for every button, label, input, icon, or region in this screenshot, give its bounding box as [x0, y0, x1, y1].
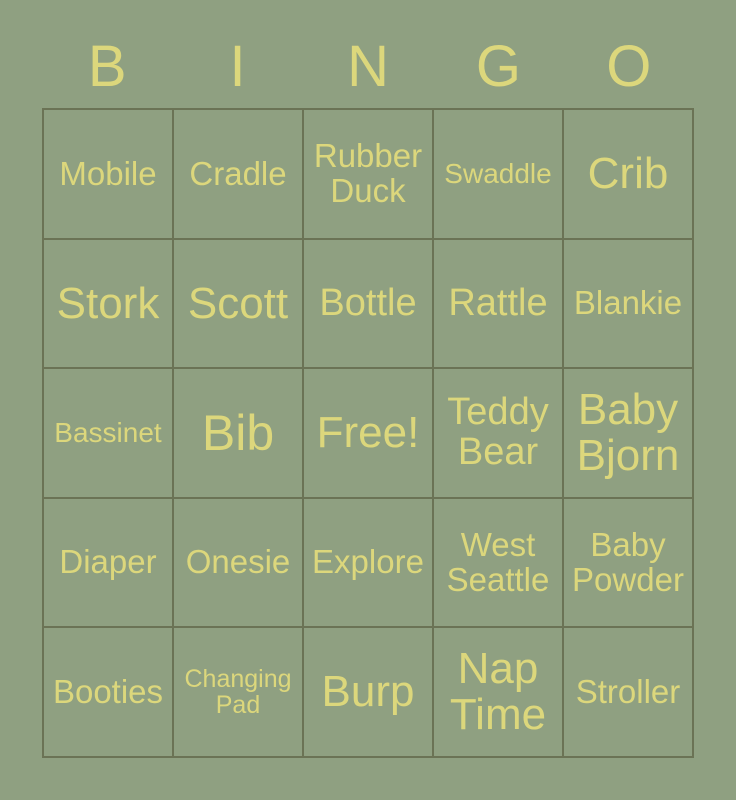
bingo-header-letter-i: I — [172, 38, 302, 96]
bingo-header: BINGO — [42, 26, 694, 108]
bingo-cell[interactable]: Changing Pad — [174, 628, 304, 758]
bingo-cell-label: Rattle — [448, 284, 547, 324]
bingo-cell-label: Booties — [53, 675, 163, 709]
bingo-cell-label: Baby Powder — [572, 528, 684, 597]
bingo-cell-label: Bassinet — [54, 418, 161, 447]
bingo-cell[interactable]: Nap Time — [434, 628, 564, 758]
bingo-cell-label: Scott — [188, 281, 288, 327]
bingo-cell[interactable]: Bottle — [304, 240, 434, 370]
bingo-header-letter-o: O — [564, 38, 694, 96]
bingo-cell[interactable]: Onesie — [174, 499, 304, 629]
bingo-cell[interactable]: Bib — [174, 369, 304, 499]
bingo-cell-label: Crib — [588, 151, 669, 197]
bingo-cell-label: Teddy Bear — [447, 393, 548, 472]
bingo-card: BINGO MobileCradleRubber DuckSwaddleCrib… — [0, 0, 736, 800]
bingo-cell-label: Rubber Duck — [314, 139, 422, 208]
bingo-cell[interactable]: Cradle — [174, 110, 304, 240]
bingo-cell[interactable]: Explore — [304, 499, 434, 629]
bingo-cell[interactable]: Baby Powder — [564, 499, 694, 629]
bingo-cell[interactable]: Scott — [174, 240, 304, 370]
bingo-cell-label: Swaddle — [444, 159, 551, 188]
bingo-cell[interactable]: Diaper — [44, 499, 174, 629]
bingo-header-letter-g: G — [433, 38, 563, 96]
bingo-cell-label: Changing Pad — [184, 666, 291, 718]
bingo-cell[interactable]: Booties — [44, 628, 174, 758]
bingo-cell-label: Baby Bjorn — [577, 387, 680, 479]
bingo-cell[interactable]: Stork — [44, 240, 174, 370]
bingo-cell[interactable]: Swaddle — [434, 110, 564, 240]
bingo-cell-label: Stork — [57, 281, 160, 327]
bingo-cell-label: Free! — [317, 410, 420, 456]
bingo-cell-label: Diaper — [59, 545, 156, 579]
bingo-cell-label: Onesie — [186, 545, 291, 579]
bingo-cell[interactable]: Rubber Duck — [304, 110, 434, 240]
bingo-cell-label: Nap Time — [450, 646, 546, 738]
bingo-header-letter-b: B — [42, 38, 172, 96]
bingo-cell[interactable]: Blankie — [564, 240, 694, 370]
bingo-cell[interactable]: Bassinet — [44, 369, 174, 499]
bingo-cell[interactable]: Burp — [304, 628, 434, 758]
bingo-cell[interactable]: Teddy Bear — [434, 369, 564, 499]
bingo-cell[interactable]: Rattle — [434, 240, 564, 370]
bingo-cell-label: Stroller — [576, 675, 681, 709]
bingo-grid: MobileCradleRubber DuckSwaddleCribStorkS… — [42, 108, 694, 758]
bingo-cell-label: Blankie — [574, 286, 682, 320]
bingo-cell[interactable]: Crib — [564, 110, 694, 240]
bingo-cell[interactable]: Baby Bjorn — [564, 369, 694, 499]
bingo-header-letter-n: N — [303, 38, 433, 96]
bingo-cell-label: Bib — [202, 407, 274, 459]
bingo-cell-label: Cradle — [189, 157, 286, 191]
bingo-cell-label: Bottle — [319, 284, 416, 324]
bingo-cell-label: Burp — [322, 669, 415, 715]
bingo-cell-label: Explore — [312, 545, 424, 579]
bingo-cell[interactable]: Free! — [304, 369, 434, 499]
bingo-cell[interactable]: Stroller — [564, 628, 694, 758]
bingo-cell-label: West Seattle — [447, 528, 550, 597]
bingo-cell-label: Mobile — [59, 157, 156, 191]
bingo-cell[interactable]: Mobile — [44, 110, 174, 240]
bingo-cell[interactable]: West Seattle — [434, 499, 564, 629]
